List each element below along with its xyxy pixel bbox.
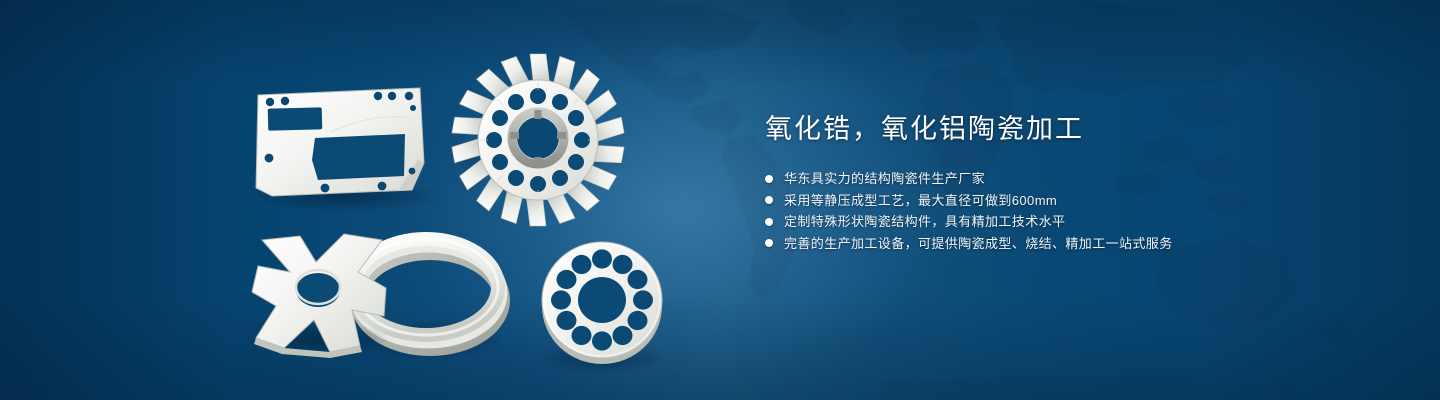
bullet-dot-icon (765, 175, 773, 183)
bullet-dot-icon (765, 239, 773, 247)
list-item-label: 完善的生产加工设备，可提供陶瓷成型、烧结、精加工一站式服务 (784, 233, 1173, 255)
list-item-label: 华东具实力的结构陶瓷件生产厂家 (784, 168, 985, 190)
list-item: 完善的生产加工设备，可提供陶瓷成型、烧结、精加工一站式服务 (765, 233, 1385, 255)
bullet-dot-icon (765, 218, 773, 226)
list-item: 定制特殊形状陶瓷结构件，具有精加工技术水平 (765, 211, 1385, 233)
ceramic-parts-collage (0, 0, 760, 400)
list-item: 采用等静压成型工艺，最大直径可做到600mm (765, 190, 1385, 212)
bullet-dot-icon (765, 196, 773, 204)
list-item-label: 定制特殊形状陶瓷结构件，具有精加工技术水平 (784, 211, 1065, 233)
banner-title: 氧化锆，氧化铝陶瓷加工 (765, 112, 1385, 146)
banner-copy: 氧化锆，氧化铝陶瓷加工 华东具实力的结构陶瓷件生产厂家 采用等静压成型工艺，最大… (765, 112, 1385, 254)
promo-banner: 氧化锆，氧化铝陶瓷加工 华东具实力的结构陶瓷件生产厂家 采用等静压成型工艺，最大… (0, 0, 1440, 400)
ceramic-impeller-rotor (446, 54, 630, 226)
ceramic-perforated-disc (536, 242, 668, 374)
feature-list: 华东具实力的结构陶瓷件生产厂家 采用等静压成型工艺，最大直径可做到600mm 定… (765, 168, 1385, 254)
ceramic-cross-shaped-plate (250, 234, 390, 358)
list-item: 华东具实力的结构陶瓷件生产厂家 (765, 168, 1385, 190)
ceramic-plate-with-cutouts (245, 88, 445, 212)
list-item-label: 采用等静压成型工艺，最大直径可做到600mm (784, 190, 1057, 212)
